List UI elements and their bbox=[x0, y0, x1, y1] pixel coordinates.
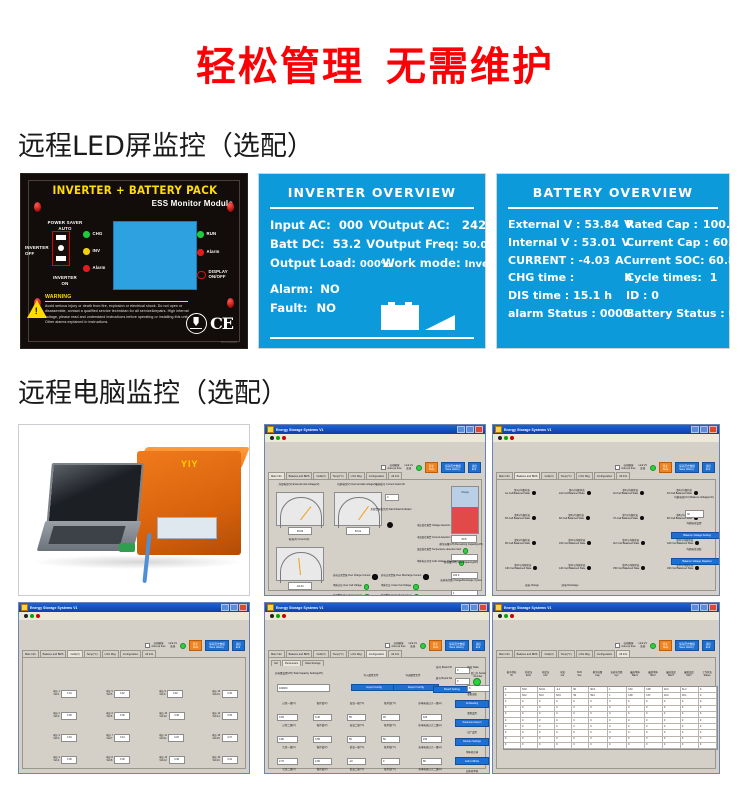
minimize-button[interactable] bbox=[461, 604, 469, 612]
signal-icon bbox=[425, 315, 455, 330]
wee-recycle-icon bbox=[186, 313, 207, 334]
all-reading-button[interactable]: All Reading bbox=[455, 700, 489, 708]
cell-balance-12: 第12节均衡状态12th Cell Balanced State bbox=[667, 540, 699, 546]
table-row: Internal V : 53.01 V Current Cap : 60.8 … bbox=[508, 234, 718, 252]
param-label-7: 恢复值(V) bbox=[309, 768, 335, 771]
board-no-label: 板号 Board No bbox=[433, 677, 455, 680]
row-value: 53.01 bbox=[582, 234, 617, 252]
balance-voltage-setting-button[interactable]: Balance Voltage Setting bbox=[671, 532, 720, 539]
param-field-4[interactable]: 3.40 bbox=[313, 714, 332, 721]
row-label: Batt DC: bbox=[270, 235, 325, 254]
cell-field[interactable]: 3.38 bbox=[61, 756, 77, 764]
param-field-13[interactable]: 50 bbox=[381, 736, 400, 743]
configuration-panel: Set Parameters Data Storage 总电量设置(AH) To… bbox=[268, 657, 486, 769]
table-cell[interactable]: 0 bbox=[504, 743, 521, 749]
param-field-10[interactable]: -10 bbox=[347, 758, 366, 765]
chg-led-label: CHG bbox=[93, 232, 103, 237]
table-row: Output Load: 000% Work mode: Inverter bbox=[270, 254, 474, 273]
inverter-overview-body: Input AC: 000 V Output AC: 242 V Batt DC… bbox=[259, 209, 485, 318]
window-title-bar[interactable]: Energy Storage Systems V1 bbox=[265, 603, 489, 612]
tab-log-msg[interactable]: LOG Msg bbox=[576, 650, 593, 657]
row-unit2: AH bbox=[744, 234, 750, 252]
tab-temp[interactable]: Temp(℃) bbox=[330, 472, 347, 479]
table-cell[interactable]: 0 bbox=[681, 743, 699, 749]
auto-refresh-checkbox[interactable]: 自动刷屏Auto-up time bbox=[381, 465, 401, 471]
cell-voltage-4: 电压 4Volt 43.38 bbox=[53, 756, 77, 764]
link-status-label: Link:V1连接 bbox=[639, 465, 647, 471]
gauge-label-external: 外部电压(V) External total voltage(V) bbox=[271, 483, 327, 486]
row-value2: 60.8 bbox=[709, 252, 736, 270]
capacity-label: 剩余容量(AH) Remaining Capacity(AH) bbox=[436, 543, 486, 546]
maximize-button[interactable] bbox=[470, 604, 478, 612]
row-label: Output Load: bbox=[270, 254, 356, 273]
record-icon[interactable] bbox=[270, 614, 274, 618]
subtab-parameters[interactable]: Parameters bbox=[282, 660, 301, 666]
maximize-button[interactable] bbox=[700, 604, 708, 612]
cell-field[interactable]: 3.39 bbox=[114, 712, 130, 720]
status-over-charge: 充电过流警报 Over Charge Current bbox=[333, 574, 378, 580]
tab-all-info[interactable]: All Info bbox=[388, 472, 402, 479]
cell-field[interactable]: 3.36 bbox=[222, 690, 238, 698]
auto-refresh-checkbox[interactable]: 自动刷屏Auto-up time bbox=[385, 643, 405, 649]
cycle-label: 充放电次数 Charge/Discharge Cycles bbox=[436, 579, 486, 582]
gauge-value-current: -04.03 bbox=[288, 582, 312, 590]
cell-field[interactable]: 3.38 bbox=[114, 756, 130, 764]
tab-all-info[interactable]: All Info bbox=[388, 650, 402, 657]
board-id-label: 当前板号 Current board ID bbox=[373, 483, 407, 486]
window-controls[interactable] bbox=[691, 604, 717, 612]
battery-overview-panel: BATTERY OVERVIEW External V : 53.84 V Ra… bbox=[496, 173, 730, 349]
main-info-window[interactable]: Energy Storage Systems V1 自动刷屏Auto-up ti… bbox=[264, 424, 486, 596]
window-controls[interactable] bbox=[221, 604, 247, 612]
tab-balance-bms[interactable]: Balance and BMS bbox=[286, 472, 313, 479]
subtab-set[interactable]: Set bbox=[271, 660, 281, 666]
status-text: 电流监控报警 Current detection fault bbox=[417, 537, 456, 540]
inverter-mode-switch[interactable] bbox=[52, 231, 70, 266]
param-field-6[interactable]: 2.90 bbox=[313, 758, 332, 765]
export-config-label: 导出配置文件 bbox=[395, 674, 431, 677]
tab-main-info[interactable]: Main Info bbox=[22, 650, 39, 657]
table-row: Input AC: 000 V Output AC: 242 V bbox=[270, 216, 474, 235]
row-label: DIS time : bbox=[508, 287, 569, 305]
param-field-1[interactable]: 3.80 bbox=[277, 736, 298, 743]
import-config-button[interactable]: Import Config bbox=[351, 684, 397, 691]
param-field-14[interactable]: 0 bbox=[381, 758, 400, 765]
param-label-9: 高温二级(℃) bbox=[341, 724, 373, 727]
close-button[interactable] bbox=[709, 426, 717, 434]
tab-main-info[interactable]: Main Info bbox=[268, 472, 285, 479]
window-body: 自动刷屏Auto-up time Link:V1连接 停止Stop 保存历史数据… bbox=[265, 442, 485, 595]
gauge-label-current: 电流(A) Current(A) bbox=[271, 538, 327, 541]
minimize-button[interactable] bbox=[457, 426, 465, 434]
cell-voltage-9: 电压 9Volt 93.40 bbox=[159, 690, 183, 698]
battery-signal-figure bbox=[381, 305, 455, 330]
cell-balance-6: 第6节均衡状态6th Cell Balanced State bbox=[559, 515, 590, 521]
ce-mark-icon: CE bbox=[210, 316, 233, 332]
cycle-field: 1 bbox=[451, 590, 478, 596]
record-icon[interactable] bbox=[498, 436, 502, 440]
cell-voltage-13: 电压 13Volt 133.36 bbox=[212, 690, 238, 698]
balance-readout-label: 均衡电压读取 bbox=[673, 548, 715, 551]
serial-number-label: 串口号 Serial Number bbox=[467, 672, 489, 678]
cell-voltage-10: 电压 10Volt 103.36 bbox=[159, 712, 185, 720]
param-field-18[interactable]: 80 bbox=[421, 758, 442, 765]
window-title-bar[interactable]: Energy Storage Systems V1 bbox=[493, 603, 719, 612]
param-label-12: 恢复值(℃) bbox=[377, 702, 403, 705]
tab-bar[interactable]: Main Info Balance and BMS Cells(V) Temp(… bbox=[268, 472, 482, 479]
stop-icon[interactable] bbox=[282, 436, 286, 440]
cell-to-whole-label: 单体转总体 bbox=[466, 750, 478, 754]
window-controls[interactable] bbox=[461, 604, 487, 612]
table-cell[interactable]: 0 bbox=[699, 743, 717, 749]
tab-configuration[interactable]: Configuration bbox=[120, 650, 141, 657]
link-status-label: Link:V1连接 bbox=[639, 643, 647, 649]
row-label2: Current Cap : bbox=[626, 234, 709, 252]
main-info-panel: 外部电压(V) External total voltage(V) 53.84 … bbox=[268, 479, 482, 591]
row-value2: 50.0 bbox=[463, 238, 488, 254]
config-side-buttons[interactable]: 参数读取 All Reading 参数设置 Parameter Export 出… bbox=[455, 692, 489, 774]
param-field-2[interactable]: 2.70 bbox=[277, 758, 298, 765]
tab-log-msg[interactable]: LOG Msg bbox=[348, 472, 365, 479]
row-label2: Rated Cap : bbox=[626, 216, 698, 234]
window-title: Energy Storage Systems V1 bbox=[276, 606, 459, 610]
screw-icon bbox=[227, 202, 234, 212]
tab-temp[interactable]: Temp(℃) bbox=[84, 650, 101, 657]
minimize-button[interactable] bbox=[691, 604, 699, 612]
inv-led-label: INV bbox=[93, 249, 101, 254]
inverter-logo: YIY bbox=[181, 459, 199, 469]
table-cell[interactable]: 0 bbox=[627, 743, 645, 749]
capacity-bar-gauge: Charge bbox=[451, 486, 479, 534]
row-unit2: AH bbox=[741, 216, 750, 234]
cell-balance-3: 第3节均衡状态3rd Cell Balanced State bbox=[613, 490, 644, 496]
serial-number: DR1300028 bbox=[221, 340, 237, 344]
window-title-bar[interactable]: Energy Storage Systems V1 bbox=[493, 425, 719, 434]
status-text: 温度监控报警 Temperature detection fault bbox=[417, 549, 461, 552]
col-cyc: 充放电次数Cyc bbox=[607, 672, 626, 678]
section-title-led: 远程LED屏监控（选配） bbox=[18, 124, 314, 163]
display-onoff-button[interactable]: DISPLAYON/OFF bbox=[197, 270, 228, 280]
configuration-window[interactable]: Energy Storage Systems V1 自动刷屏Auto-up ti… bbox=[264, 602, 490, 774]
warning-title: WARNING bbox=[45, 294, 191, 300]
link-status-label: Link:V1连接 bbox=[169, 643, 177, 649]
app-icon bbox=[495, 426, 502, 433]
row-value2: 1 bbox=[710, 269, 718, 287]
tab-log-msg[interactable]: LOG Msg bbox=[348, 650, 365, 657]
balance-bms-window[interactable]: Energy Storage Systems V1 自动刷屏Auto-up ti… bbox=[492, 424, 720, 596]
auto-refresh-checkbox[interactable]: 自动刷屏Auto-up time bbox=[615, 643, 635, 649]
cell-balance-7: 第7节均衡状态7th Cell Balanced State bbox=[613, 515, 644, 521]
table-cell[interactable]: 0 bbox=[521, 743, 538, 749]
col-mint: 最低温度MinT bbox=[680, 672, 698, 678]
tab-configuration[interactable]: Configuration bbox=[594, 650, 615, 657]
cell-balance-4: 第4节均衡状态4th Cell Balanced State bbox=[667, 490, 698, 496]
link-status-label: Link:V1连接 bbox=[409, 643, 417, 649]
param-label-0: 过压一级(V) bbox=[273, 702, 305, 705]
row-label: alarm Status : bbox=[508, 305, 596, 323]
tab-balance-bms[interactable]: Balance and BMS bbox=[40, 650, 67, 657]
close-button[interactable] bbox=[239, 604, 247, 612]
parameter-export-button[interactable]: Parameter Export bbox=[455, 719, 489, 727]
param-label-11: 低温二级(℃) bbox=[341, 768, 373, 771]
record-icon[interactable] bbox=[270, 436, 274, 440]
row-label2: Cycle times: bbox=[626, 269, 702, 287]
tab-log-msg[interactable]: LOG Msg bbox=[102, 650, 119, 657]
table-cell[interactable]: 0 bbox=[589, 743, 608, 749]
balance-voltage-readout-button[interactable]: Balance Voltage Readout bbox=[671, 558, 720, 565]
switch-knob[interactable] bbox=[58, 245, 64, 251]
tab-all-info[interactable]: All Info bbox=[142, 650, 156, 657]
param-label-13: 恢复值(℃) bbox=[377, 724, 403, 727]
battery-icon bbox=[381, 305, 419, 330]
cells-voltage-window[interactable]: Energy Storage Systems V1 自动刷屏Auto-up ti… bbox=[18, 602, 250, 774]
tab-bar[interactable]: Main Info Balance and BMS Cells(V) Temp(… bbox=[22, 650, 246, 657]
cell-voltage-15: 电压 15Volt 153.37 bbox=[212, 734, 238, 742]
cell-field[interactable]: 3.34 bbox=[222, 756, 238, 764]
record-icon[interactable] bbox=[498, 614, 502, 618]
window-body: 自动刷屏Auto-up time Link:V1连接 停止Stop 保存历史数据… bbox=[265, 620, 489, 773]
stop-icon[interactable] bbox=[36, 614, 40, 618]
led-indicator-inv: INV bbox=[83, 248, 100, 255]
link-led-icon bbox=[650, 465, 656, 471]
cell-field[interactable]: 3.36 bbox=[169, 712, 185, 720]
close-button[interactable] bbox=[475, 426, 483, 434]
status-over-temp: 高温警报 Over Temperature bbox=[333, 594, 370, 596]
cell-field[interactable]: 3.33 bbox=[168, 734, 184, 742]
cell-field[interactable]: 3.37 bbox=[222, 734, 238, 742]
import-config-label: 导入配置文件 bbox=[353, 674, 389, 677]
window-title-bar[interactable]: Energy Storage Systems V1 bbox=[19, 603, 249, 612]
play-icon[interactable] bbox=[276, 436, 280, 440]
param-field-17[interactable]: 150 bbox=[421, 736, 442, 743]
status-under-cell-v: 单体欠压 Under Cell Voltage bbox=[381, 584, 419, 590]
cell-field[interactable]: 3.44 bbox=[114, 734, 130, 742]
tab-main-info[interactable]: Main Info bbox=[496, 472, 513, 479]
window-title: Energy Storage Systems V1 bbox=[504, 428, 689, 432]
window-controls[interactable] bbox=[691, 426, 717, 434]
param-label-8: 高温一级(℃) bbox=[341, 702, 373, 705]
subtab-data-storage[interactable]: Data Storage bbox=[302, 660, 323, 666]
warning-body: Avoid serious injury or death from fire,… bbox=[45, 304, 191, 325]
laptop-and-inverter-photo: YIY bbox=[18, 424, 250, 596]
tab-temp[interactable]: Temp(℃) bbox=[558, 650, 575, 657]
cell-field[interactable]: 3.38 bbox=[169, 756, 185, 764]
tab-configuration[interactable]: Configuration bbox=[594, 472, 615, 479]
col-extv: 外部压ExtV bbox=[520, 672, 537, 678]
row-value: -4.03 bbox=[578, 252, 610, 270]
link-led-icon bbox=[416, 465, 422, 471]
battery-overview-body: External V : 53.84 V Rated Cap : 100.0 A… bbox=[497, 209, 729, 323]
cells-panel: 电压 1Volt 13.34 电压 5Volt 53.42 电压 9Volt 9… bbox=[22, 657, 246, 769]
tab-balance-bms[interactable]: Balance and BMS bbox=[514, 472, 541, 479]
page-title-part2: 无需维护 bbox=[386, 44, 554, 90]
balance-voltage-field[interactable]: 30 bbox=[685, 510, 704, 518]
tab-cells[interactable]: Cells(V) bbox=[313, 472, 328, 479]
tab-bar[interactable]: Main Info Balance and BMS Cells(V) Temp(… bbox=[268, 650, 486, 657]
param-field-16[interactable]: 100 bbox=[421, 714, 442, 721]
link-status-label: Link:V1连接 bbox=[405, 465, 413, 471]
cell-to-whole-button[interactable]: Cell to Whole bbox=[455, 757, 489, 765]
auto-refresh-checkbox[interactable]: 自动刷屏Auto-up time bbox=[615, 465, 635, 471]
led-panel-title: INVERTER + BATTERY PACK bbox=[21, 183, 249, 197]
table-cell[interactable]: 0 bbox=[608, 743, 627, 749]
table-cell[interactable]: 0 bbox=[663, 743, 681, 749]
row-label2: ID : 0 bbox=[626, 287, 659, 305]
restore-settings-button[interactable]: Restore Settings bbox=[455, 738, 489, 746]
cell-field[interactable]: 3.38 bbox=[61, 712, 77, 720]
cell-balance-11: 第11节均衡状态11th Cell Balanced State bbox=[613, 540, 645, 546]
tab-temp[interactable]: Temp(℃) bbox=[558, 472, 575, 479]
board-id-label: 板号 Board ID bbox=[433, 666, 455, 669]
tab-cells[interactable]: Cells(V) bbox=[67, 650, 82, 657]
alarm-indicator-label: 系统警报指示灯 Alarm/Fault indicator bbox=[369, 508, 413, 511]
total-capacity-setting-field[interactable]: 100000 bbox=[277, 684, 330, 692]
tab-log-msg[interactable]: LOG Msg bbox=[576, 472, 593, 479]
cell-balance-10: 第10节均衡状态10th Cell Balanced State bbox=[559, 540, 591, 546]
inv-led-icon bbox=[83, 248, 90, 255]
minimize-button[interactable] bbox=[221, 604, 229, 612]
row-unit: V bbox=[369, 216, 378, 235]
window-title-bar[interactable]: Energy Storage Systems V1 bbox=[265, 425, 485, 434]
alarm-indicator-icon bbox=[387, 522, 393, 528]
gauge-value-internal: 53.01 bbox=[346, 527, 370, 535]
cell-voltage-7: 电压 7Volt 73.44 bbox=[106, 734, 130, 742]
close-button[interactable] bbox=[479, 604, 487, 612]
maximize-button[interactable] bbox=[466, 426, 474, 434]
cell-field[interactable]: 3.42 bbox=[114, 690, 130, 698]
status-over-cell-v: 单体过压 Over Cell Voltage bbox=[333, 584, 369, 590]
row-label2: Output AC: bbox=[378, 216, 450, 235]
balance-setting-label: 均衡电压设置 bbox=[673, 522, 715, 525]
window-title: Energy Storage Systems V1 bbox=[276, 428, 455, 432]
row-unit: V bbox=[366, 235, 375, 254]
divider-bottom bbox=[270, 337, 474, 339]
tab-main-info[interactable]: Main Info bbox=[496, 650, 513, 657]
param-label-4: 恢复值(V) bbox=[309, 702, 335, 705]
param-field-8[interactable]: 55 bbox=[347, 714, 366, 721]
table-row: CURRENT : -4.03 A Current SOC: 60.8 bbox=[508, 252, 718, 270]
laptop-keyboard bbox=[48, 526, 125, 544]
status-text: 单体欠压 Under Cell Voltage bbox=[381, 585, 411, 588]
table-cell[interactable]: 0 bbox=[555, 743, 572, 749]
param-field-5[interactable]: 3.55 bbox=[313, 736, 332, 743]
param-field-12[interactable]: 45 bbox=[381, 714, 400, 721]
all-info-table[interactable]: 053.853.01-4.16060.813.403.3832.031.0015… bbox=[503, 686, 718, 750]
play-icon[interactable] bbox=[30, 614, 34, 618]
stop-icon[interactable] bbox=[510, 436, 514, 440]
page-title-part1: 轻松管理 bbox=[196, 44, 364, 90]
row-label: CURRENT : bbox=[508, 252, 574, 270]
all-info-window[interactable]: Energy Storage Systems V1 自动刷屏Auto-up ti… bbox=[492, 602, 720, 774]
cell-field[interactable]: 3.35 bbox=[222, 712, 238, 720]
board-id-field[interactable]: 0 bbox=[385, 494, 399, 501]
close-button[interactable] bbox=[709, 604, 717, 612]
stop-icon[interactable] bbox=[510, 614, 514, 618]
display-onoff-label: DISPLAYON/OFF bbox=[209, 270, 228, 280]
led-monitor-panel: INVERTER + BATTERY PACK ESS Monitor Modu… bbox=[20, 173, 248, 349]
board-no-field[interactable]: 0 bbox=[455, 678, 470, 685]
cell-voltage-5: 电压 5Volt 53.42 bbox=[106, 690, 130, 698]
tab-bar[interactable]: Main Info Balance and BMS Cells(V) Temp(… bbox=[496, 472, 716, 479]
tab-configuration[interactable]: Configuration bbox=[366, 650, 387, 657]
status-text: 单体过压 Over Cell Voltage bbox=[333, 585, 362, 588]
cell-voltage-6: 电压 6Volt 63.39 bbox=[106, 712, 130, 720]
status-under-temp: 低温警报 Under Temperature bbox=[381, 594, 419, 596]
maximize-button[interactable] bbox=[700, 426, 708, 434]
status-text: 充电过流警报 Over Charge Current bbox=[333, 575, 370, 578]
tab-all-info[interactable]: All Info bbox=[616, 472, 630, 479]
tab-main-info[interactable]: Main Info bbox=[268, 650, 285, 657]
cell-balance-14: 第14节均衡状态14th Cell Balanced State bbox=[559, 565, 591, 571]
param-field-9[interactable]: 65 bbox=[347, 736, 366, 743]
maximize-button[interactable] bbox=[230, 604, 238, 612]
tab-cells[interactable]: Cells(V) bbox=[541, 650, 556, 657]
param-field-0[interactable]: 3.65 bbox=[277, 714, 298, 721]
link-led-icon bbox=[420, 643, 426, 649]
cell-balance-16: 第16节均衡状态16th Cell Balanced State bbox=[667, 565, 699, 571]
tab-cells[interactable]: Cells(V) bbox=[541, 472, 556, 479]
led-indicator-run: RUN bbox=[197, 231, 216, 238]
tab-temp[interactable]: Temp(℃) bbox=[330, 650, 347, 657]
tab-balance-bms[interactable]: Balance and BMS bbox=[286, 650, 313, 657]
run-led-label: RUN bbox=[207, 232, 217, 237]
play-icon[interactable] bbox=[504, 614, 508, 618]
warning-divider bbox=[45, 301, 188, 302]
alarm2-led-icon bbox=[197, 249, 204, 256]
record-icon[interactable] bbox=[24, 614, 28, 618]
cell-field[interactable]: 3.33 bbox=[61, 734, 77, 742]
cell-field[interactable]: 3.34 bbox=[61, 690, 77, 698]
status-text: 低温警报 Under Temperature bbox=[381, 595, 412, 596]
row-value: 53.2 bbox=[333, 235, 362, 254]
row-label2: Work mode: bbox=[382, 254, 461, 273]
table-row: alarm Status : 0000 Battery Status : 000… bbox=[508, 305, 718, 323]
minimize-button[interactable] bbox=[691, 426, 699, 434]
tab-bar[interactable]: Main Info Balance and BMS Cells(V) Temp(… bbox=[496, 650, 716, 657]
table-row[interactable]: 000000000000 bbox=[504, 743, 717, 749]
alarm-label: Alarm: bbox=[270, 280, 313, 299]
param-label-14: 恢复值(℃) bbox=[377, 746, 403, 749]
tab-all-info[interactable]: All Info bbox=[616, 650, 630, 657]
window-controls[interactable] bbox=[457, 426, 483, 434]
col-soc: SOCSoc bbox=[571, 672, 588, 678]
play-icon[interactable] bbox=[504, 436, 508, 440]
tab-cells[interactable]: Cells(V) bbox=[313, 650, 328, 657]
cell-voltage-1: 电压 1Volt 13.34 bbox=[53, 690, 77, 698]
col-status: 工作状态Status bbox=[698, 672, 716, 678]
gauge-external-voltage bbox=[276, 492, 324, 526]
stop-icon[interactable] bbox=[282, 614, 286, 618]
tab-balance-bms[interactable]: Balance and BMS bbox=[514, 650, 541, 657]
cell-balance-13: 第13节均衡状态13th Cell Balanced State bbox=[505, 565, 537, 571]
alarm-led-label: Alarm bbox=[93, 266, 106, 271]
fault-value: NO bbox=[316, 299, 336, 318]
table-cell[interactable]: 0 bbox=[538, 743, 555, 749]
serial-number-field[interactable]: 3 bbox=[467, 685, 490, 692]
play-icon[interactable] bbox=[276, 614, 280, 618]
table-cell[interactable]: 0 bbox=[645, 743, 663, 749]
table-cell[interactable]: 0 bbox=[572, 743, 589, 749]
status-over-discharge: 放电过流警报 Over Discharge Current bbox=[381, 574, 429, 580]
cell-field[interactable]: 3.40 bbox=[167, 690, 183, 698]
auto-refresh-checkbox[interactable]: 自动刷屏Auto-up time bbox=[145, 643, 165, 649]
tab-configuration[interactable]: Configuration bbox=[366, 472, 387, 479]
alarm-value: NO bbox=[320, 280, 340, 299]
param-label-1: 过压二级(V) bbox=[273, 724, 305, 727]
cell-balance-2: 第2节均衡状态2nd Cell Balanced State bbox=[559, 490, 591, 496]
switch-slot-top bbox=[56, 235, 66, 240]
screw-icon bbox=[34, 202, 41, 212]
